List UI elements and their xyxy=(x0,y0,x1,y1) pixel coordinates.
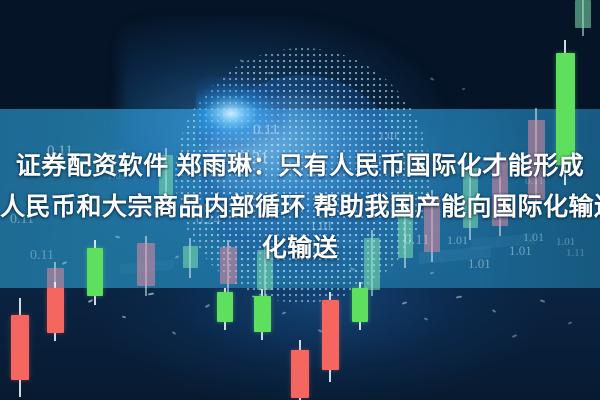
candlestick-body xyxy=(322,300,339,370)
news-thumbnail-image: 0.110.110.211.011.010.111.010.110.241.01… xyxy=(0,0,600,400)
candlestick-body xyxy=(217,292,233,322)
candlestick-down xyxy=(11,298,29,397)
candlestick-up xyxy=(254,289,271,340)
candlestick-body xyxy=(47,288,64,333)
candlestick-body xyxy=(291,350,309,398)
price-number: 0.11 xyxy=(253,122,279,139)
candlestick-down xyxy=(47,282,64,341)
price-number: 1.01 xyxy=(379,130,398,142)
candlestick-up xyxy=(575,0,591,36)
candlestick-up xyxy=(217,288,233,330)
candlestick-down xyxy=(322,292,339,382)
candlestick-body xyxy=(11,315,29,380)
headline-line-1: 证券配资软件 郑雨琳：只有人民币国际化才能形成 xyxy=(0,146,600,187)
headline-line-2: 人民币和大宗商品内部循环 帮助我国产能向国际化输送 xyxy=(0,187,600,228)
candlestick-body xyxy=(352,288,368,322)
headline-text: 证券配资软件 郑雨琳：只有人民币国际化才能形成 人民币和大宗商品内部循环 帮助我… xyxy=(0,146,600,269)
headline-line-3: 化输送 xyxy=(0,228,600,269)
candlestick-body xyxy=(254,296,271,332)
candlestick-down xyxy=(291,340,309,400)
candlestick-body xyxy=(575,0,591,28)
candlestick-up xyxy=(352,282,368,330)
